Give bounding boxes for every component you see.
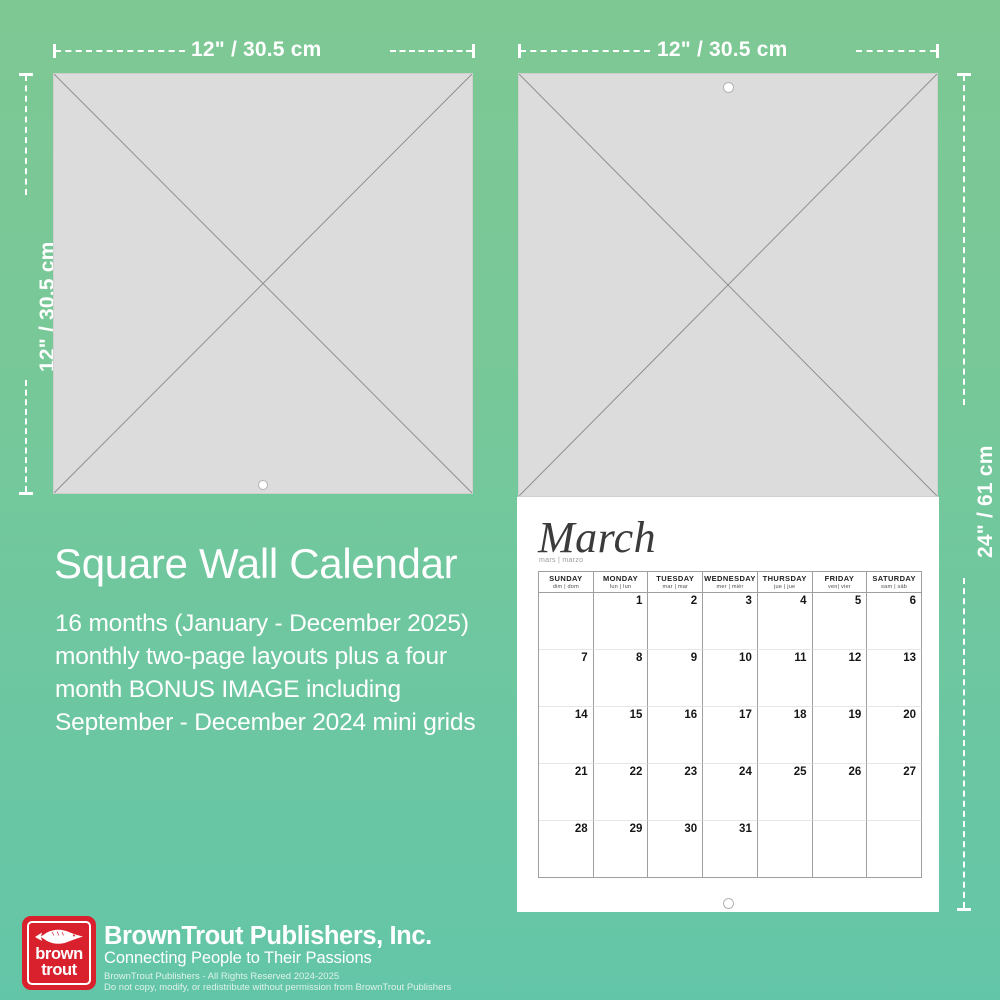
calendar-day-cell[interactable]: 25 xyxy=(758,764,813,821)
calendar-day-cell[interactable]: 22 xyxy=(594,764,649,821)
right-image-placeholder-panel xyxy=(518,73,938,497)
logo-word-brown: brown xyxy=(35,946,83,962)
placeholder-cross-icon xyxy=(54,74,472,493)
product-description-line: monthly two-page layouts plus a four xyxy=(55,640,515,673)
calendar-day-number: 28 xyxy=(575,823,588,835)
dim-line-right-a xyxy=(963,75,965,405)
dim-line-left-a xyxy=(25,75,27,195)
calendar-day-cell[interactable] xyxy=(867,821,922,878)
calendar-day-header-name: SATURDAY xyxy=(867,575,921,584)
calendar-day-number: 10 xyxy=(739,652,752,664)
calendar-day-number: 9 xyxy=(691,652,697,664)
dim-line-top-right-b xyxy=(856,50,936,52)
legal-line-2: Do not copy, modify, or redistribute wit… xyxy=(104,982,451,994)
calendar-day-cell[interactable]: 15 xyxy=(594,707,649,764)
calendar-day-number: 4 xyxy=(800,595,806,607)
calendar-day-cell[interactable]: 27 xyxy=(867,764,922,821)
logo-word-trout: trout xyxy=(41,962,77,978)
dim-line-top-left-a xyxy=(55,50,185,52)
calendar-day-header-sub: ven| vier xyxy=(813,584,867,591)
calendar-day-cell[interactable] xyxy=(758,821,813,878)
placeholder-cross-icon xyxy=(519,74,937,496)
dim-line-top-right-a xyxy=(520,50,650,52)
calendar-day-number: 23 xyxy=(684,766,697,778)
calendar-day-number: 27 xyxy=(903,766,916,778)
hole-punch-left-panel xyxy=(258,480,268,490)
dim-label-top-left: 12" / 30.5 cm xyxy=(191,38,321,62)
calendar-day-number: 11 xyxy=(794,652,806,664)
calendar-page: March mars | marzo SUNDAYdim | domMONDAY… xyxy=(517,497,939,912)
calendar-day-number: 22 xyxy=(630,766,643,778)
calendar-day-number: 17 xyxy=(739,709,752,721)
calendar-day-number: 8 xyxy=(636,652,642,664)
calendar-month-title: March xyxy=(538,516,656,560)
calendar-day-number: 13 xyxy=(903,652,916,664)
product-description: 16 months (January - December 2025)month… xyxy=(55,607,515,739)
calendar-day-cell[interactable]: 18 xyxy=(758,707,813,764)
calendar-day-header-sub: mar | mar xyxy=(648,584,702,591)
calendar-day-header-name: MONDAY xyxy=(594,575,648,584)
calendar-grid: SUNDAYdim | domMONDAYlun | lunTUESDAYmar… xyxy=(538,571,922,878)
calendar-day-cell[interactable] xyxy=(539,593,594,650)
calendar-day-number: 12 xyxy=(848,652,861,664)
company-tagline: Connecting People to Their Passions xyxy=(104,949,372,968)
calendar-day-header-sub: jue | jue xyxy=(758,584,812,591)
calendar-day-header-sub: lun | lun xyxy=(594,584,648,591)
calendar-day-header-sub: dim | dom xyxy=(539,584,593,591)
calendar-day-number: 30 xyxy=(684,823,697,835)
calendar-day-cell[interactable]: 11 xyxy=(758,650,813,707)
calendar-day-header: FRIDAYven| vier xyxy=(813,572,868,593)
calendar-day-cell[interactable]: 17 xyxy=(703,707,758,764)
calendar-day-cell[interactable]: 9 xyxy=(648,650,703,707)
dim-label-right-vertical: 24" / 61 cm xyxy=(974,445,998,558)
calendar-day-number: 20 xyxy=(903,709,916,721)
calendar-day-number: 15 xyxy=(630,709,643,721)
company-name: BrownTrout Publishers, Inc. xyxy=(104,922,432,951)
dim-line-right-b xyxy=(963,578,965,908)
calendar-day-cell[interactable]: 10 xyxy=(703,650,758,707)
calendar-day-cell[interactable]: 4 xyxy=(758,593,813,650)
calendar-day-cell[interactable]: 26 xyxy=(813,764,868,821)
calendar-day-cell[interactable]: 30 xyxy=(648,821,703,878)
calendar-day-cell[interactable]: 16 xyxy=(648,707,703,764)
calendar-day-number: 5 xyxy=(855,595,861,607)
calendar-day-cell[interactable]: 2 xyxy=(648,593,703,650)
calendar-day-number: 18 xyxy=(794,709,807,721)
calendar-day-number: 2 xyxy=(691,595,697,607)
hole-punch-right-panel-bottom xyxy=(723,898,734,909)
calendar-day-cell[interactable]: 14 xyxy=(539,707,594,764)
product-promo-canvas: 12" / 30.5 cm 12" / 30.5 cm 12" / 30.5 c… xyxy=(0,0,1000,1000)
calendar-day-cell[interactable]: 1 xyxy=(594,593,649,650)
calendar-day-cell[interactable]: 21 xyxy=(539,764,594,821)
product-headline: Square Wall Calendar xyxy=(54,540,457,588)
calendar-day-header: WEDNESDAYmer | miér xyxy=(703,572,758,593)
dim-line-left-b xyxy=(25,380,27,492)
calendar-day-number: 31 xyxy=(739,823,752,835)
product-description-line: September - December 2024 mini grids xyxy=(55,706,515,739)
dim-label-top-right: 12" / 30.5 cm xyxy=(657,38,787,62)
calendar-day-header: SATURDAYsam | sáb xyxy=(867,572,922,593)
calendar-day-number: 6 xyxy=(910,595,916,607)
dim-cap-left-bottom xyxy=(19,492,33,495)
calendar-day-number: 24 xyxy=(739,766,752,778)
calendar-day-number: 14 xyxy=(575,709,588,721)
calendar-month-subtitle: mars | marzo xyxy=(539,557,583,564)
hole-punch-right-panel-top xyxy=(723,82,734,93)
dim-cap-right-bottom xyxy=(957,908,971,911)
calendar-day-header: SUNDAYdim | dom xyxy=(539,572,594,593)
calendar-day-header: MONDAYlun | lun xyxy=(594,572,649,593)
calendar-day-cell[interactable]: 24 xyxy=(703,764,758,821)
calendar-day-number: 25 xyxy=(794,766,807,778)
calendar-day-number: 16 xyxy=(684,709,697,721)
calendar-day-header-sub: sam | sáb xyxy=(867,584,921,591)
calendar-day-cell[interactable]: 13 xyxy=(867,650,922,707)
calendar-day-header-name: TUESDAY xyxy=(648,575,702,584)
dim-line-top-left-b xyxy=(390,50,472,52)
calendar-day-cell[interactable] xyxy=(813,821,868,878)
calendar-day-number: 1 xyxy=(636,595,642,607)
calendar-day-header-name: SUNDAY xyxy=(539,575,593,584)
calendar-day-number: 26 xyxy=(848,766,861,778)
calendar-day-cell[interactable]: 23 xyxy=(648,764,703,821)
calendar-day-header-name: THURSDAY xyxy=(758,575,812,584)
calendar-day-header: THURSDAYjue | jue xyxy=(758,572,813,593)
calendar-day-number: 3 xyxy=(745,595,751,607)
product-description-line: month BONUS IMAGE including xyxy=(55,673,515,706)
calendar-day-number: 29 xyxy=(630,823,643,835)
calendar-day-header-name: WEDNESDAY xyxy=(703,575,757,584)
calendar-day-header: TUESDAYmar | mar xyxy=(648,572,703,593)
calendar-day-cell[interactable]: 8 xyxy=(594,650,649,707)
calendar-day-cell[interactable]: 31 xyxy=(703,821,758,878)
calendar-day-cell[interactable]: 28 xyxy=(539,821,594,878)
calendar-day-cell[interactable]: 29 xyxy=(594,821,649,878)
calendar-day-cell[interactable]: 5 xyxy=(813,593,868,650)
trout-fish-icon xyxy=(32,926,86,946)
calendar-day-header-sub: mer | miér xyxy=(703,584,757,591)
calendar-day-cell[interactable]: 12 xyxy=(813,650,868,707)
calendar-day-cell[interactable]: 20 xyxy=(867,707,922,764)
dim-cap-top-left-end xyxy=(472,44,475,58)
calendar-day-cell[interactable]: 6 xyxy=(867,593,922,650)
left-image-placeholder-panel xyxy=(53,73,473,494)
dim-cap-top-right-end xyxy=(936,44,939,58)
browntrout-logo[interactable]: brown trout xyxy=(22,916,96,990)
product-description-line: 16 months (January - December 2025) xyxy=(55,607,515,640)
logo-inner-frame: brown trout xyxy=(27,921,91,985)
calendar-day-number: 21 xyxy=(575,766,588,778)
calendar-day-cell[interactable]: 7 xyxy=(539,650,594,707)
calendar-day-cell[interactable]: 3 xyxy=(703,593,758,650)
calendar-day-header-name: FRIDAY xyxy=(813,575,867,584)
calendar-day-cell[interactable]: 19 xyxy=(813,707,868,764)
calendar-day-number: 19 xyxy=(848,709,861,721)
calendar-day-number: 7 xyxy=(581,652,587,664)
